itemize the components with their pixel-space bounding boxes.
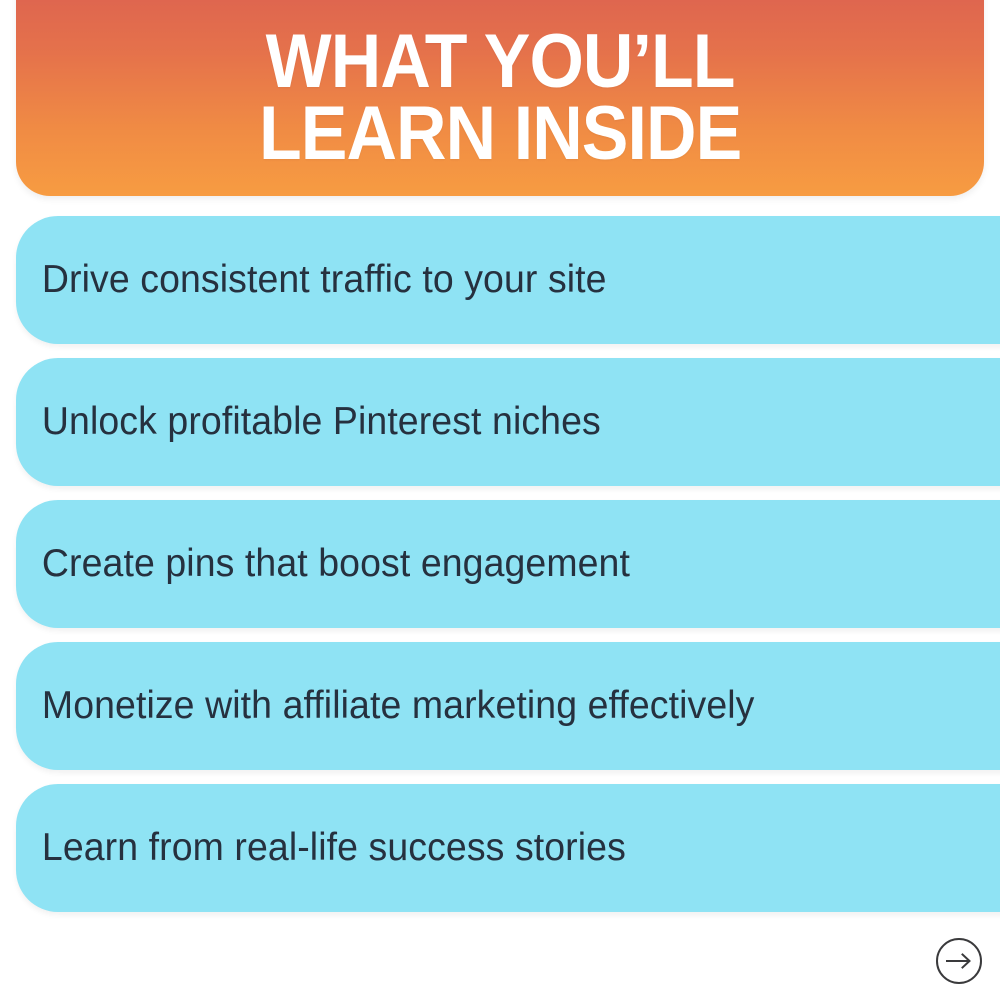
list-item-label: Create pins that boost engagement	[16, 542, 630, 586]
list-item[interactable]: Learn from real-life success stories	[16, 784, 1000, 912]
arrow-right-icon	[946, 953, 972, 969]
slide-canvas: WHAT YOU’LL LEARN INSIDE Drive consisten…	[0, 0, 1000, 1000]
list-item[interactable]: Unlock profitable Pinterest niches	[16, 358, 1000, 486]
list-item-label: Learn from real-life success stories	[16, 826, 626, 870]
list-item[interactable]: Create pins that boost engagement	[16, 500, 1000, 628]
list-item[interactable]: Monetize with affiliate marketing effect…	[16, 642, 1000, 770]
list-item[interactable]: Drive consistent traffic to your site	[16, 216, 1000, 344]
learning-points-list: Drive consistent traffic to your site Un…	[0, 216, 1000, 926]
list-item-label: Unlock profitable Pinterest niches	[16, 400, 601, 444]
list-item-label: Monetize with affiliate marketing effect…	[16, 684, 754, 728]
header-banner: WHAT YOU’LL LEARN INSIDE	[16, 0, 984, 196]
list-item-label: Drive consistent traffic to your site	[16, 258, 607, 302]
page-title: WHAT YOU’LL LEARN INSIDE	[259, 12, 741, 170]
next-button[interactable]	[936, 938, 982, 984]
